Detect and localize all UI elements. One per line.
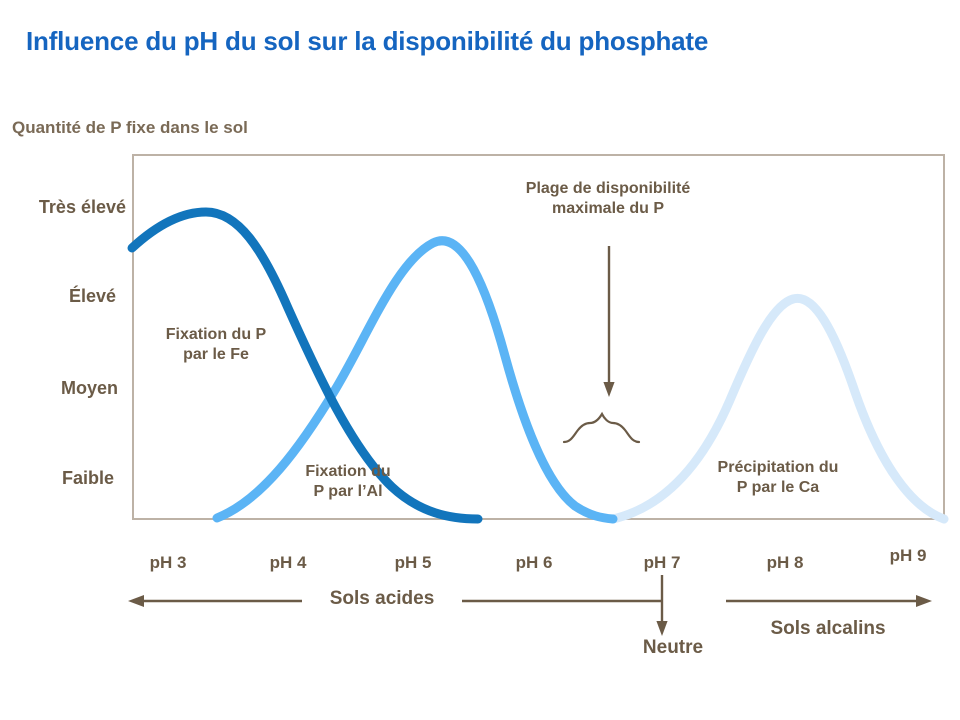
y-tick-eleve: Élevé: [0, 286, 116, 307]
annotation-label-max-availability: Plage de disponibilité maximale du P: [478, 179, 738, 220]
ph-tick-4: pH 4: [243, 553, 333, 573]
sols-acides-label: Sols acides: [302, 588, 462, 610]
curve-label-fe: Fixation du P par le Fe: [146, 325, 286, 366]
curve-label-al-line1: Fixation du: [305, 463, 390, 480]
ph-tick-9: pH 9: [863, 546, 953, 566]
y-axis-caption: Quantité de P fixe dans le sol: [12, 118, 248, 138]
ph-tick-5: pH 5: [368, 553, 458, 573]
page-title: Influence du pH du sol sur la disponibil…: [26, 26, 926, 57]
annotation-max-line2: maximale du P: [552, 200, 664, 217]
annotation-max-line1: Plage de disponibilité: [526, 180, 690, 197]
sols-alcalins-label: Sols alcalins: [718, 618, 938, 640]
sols-alcalins-arrow-icon: [726, 595, 932, 607]
y-tick-tres-eleve: Très élevé: [0, 197, 126, 218]
ph-tick-6: pH 6: [489, 553, 579, 573]
curve-label-ca-line2: P par le Ca: [737, 479, 819, 496]
ph-tick-7: pH 7: [617, 553, 707, 573]
y-tick-moyen: Moyen: [0, 378, 118, 399]
y-tick-faible: Faible: [0, 468, 114, 489]
ph-tick-8: pH 8: [740, 553, 830, 573]
curve-label-fe-line1: Fixation du P: [166, 326, 266, 343]
curve-label-fe-line2: par le Fe: [183, 346, 249, 363]
curve-label-al: Fixation du P par l’Al: [278, 462, 418, 503]
ph-tick-3: pH 3: [123, 553, 213, 573]
curve-label-al-line2: P par l’Al: [313, 483, 382, 500]
curve-label-ca-line1: Précipitation du: [718, 459, 839, 476]
neutre-label: Neutre: [608, 637, 738, 659]
curve-label-ca: Précipitation du P par le Ca: [688, 458, 868, 499]
slide-canvas: Influence du pH du sol sur la disponibil…: [0, 0, 960, 720]
neutre-arrow-icon: [656, 575, 667, 636]
